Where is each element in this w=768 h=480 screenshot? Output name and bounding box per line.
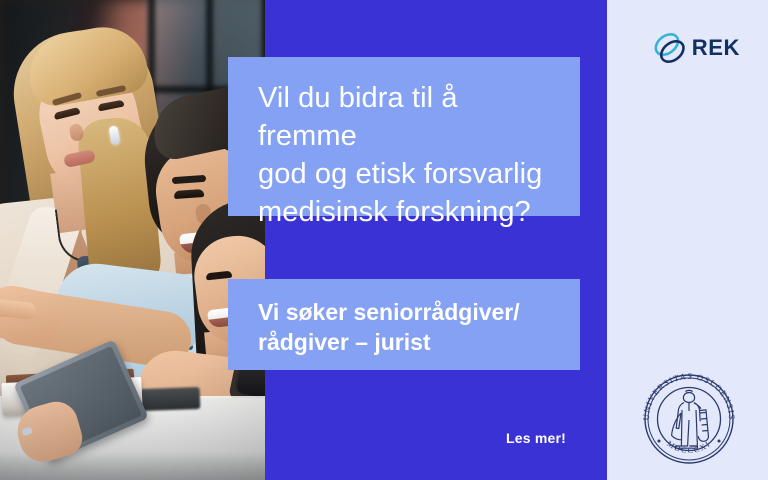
job-title-text: Vi søker seniorrådgiver/ rådgiver – juri… (258, 297, 550, 357)
uio-seal-graphic: UNIVERSITAS OSLOENSIS MDCCCXI (637, 367, 741, 471)
photo-vignette (0, 0, 265, 480)
seal-outer-text: UNIVERSITAS OSLOENSIS (641, 371, 737, 421)
rek-wordmark: REK (692, 37, 740, 59)
apollo-figure (672, 390, 709, 448)
recruitment-banner: Vil du bidra til å fremme god og etisk f… (0, 0, 768, 480)
headline-text: Vil du bidra til å fremme god og etisk f… (258, 79, 550, 231)
interlocking-rings-icon (650, 28, 690, 68)
job-title-box: Vi søker seniorrådgiver/ rådgiver – juri… (228, 279, 580, 370)
headline-box: Vil du bidra til å fremme god og etisk f… (228, 57, 580, 216)
read-more-link[interactable]: Les mer! (506, 430, 566, 446)
uio-seal: UNIVERSITAS OSLOENSIS MDCCCXI (637, 367, 741, 471)
team-photo (0, 0, 265, 480)
photo-illustration (0, 0, 265, 480)
rek-logo[interactable]: REK (650, 27, 740, 69)
